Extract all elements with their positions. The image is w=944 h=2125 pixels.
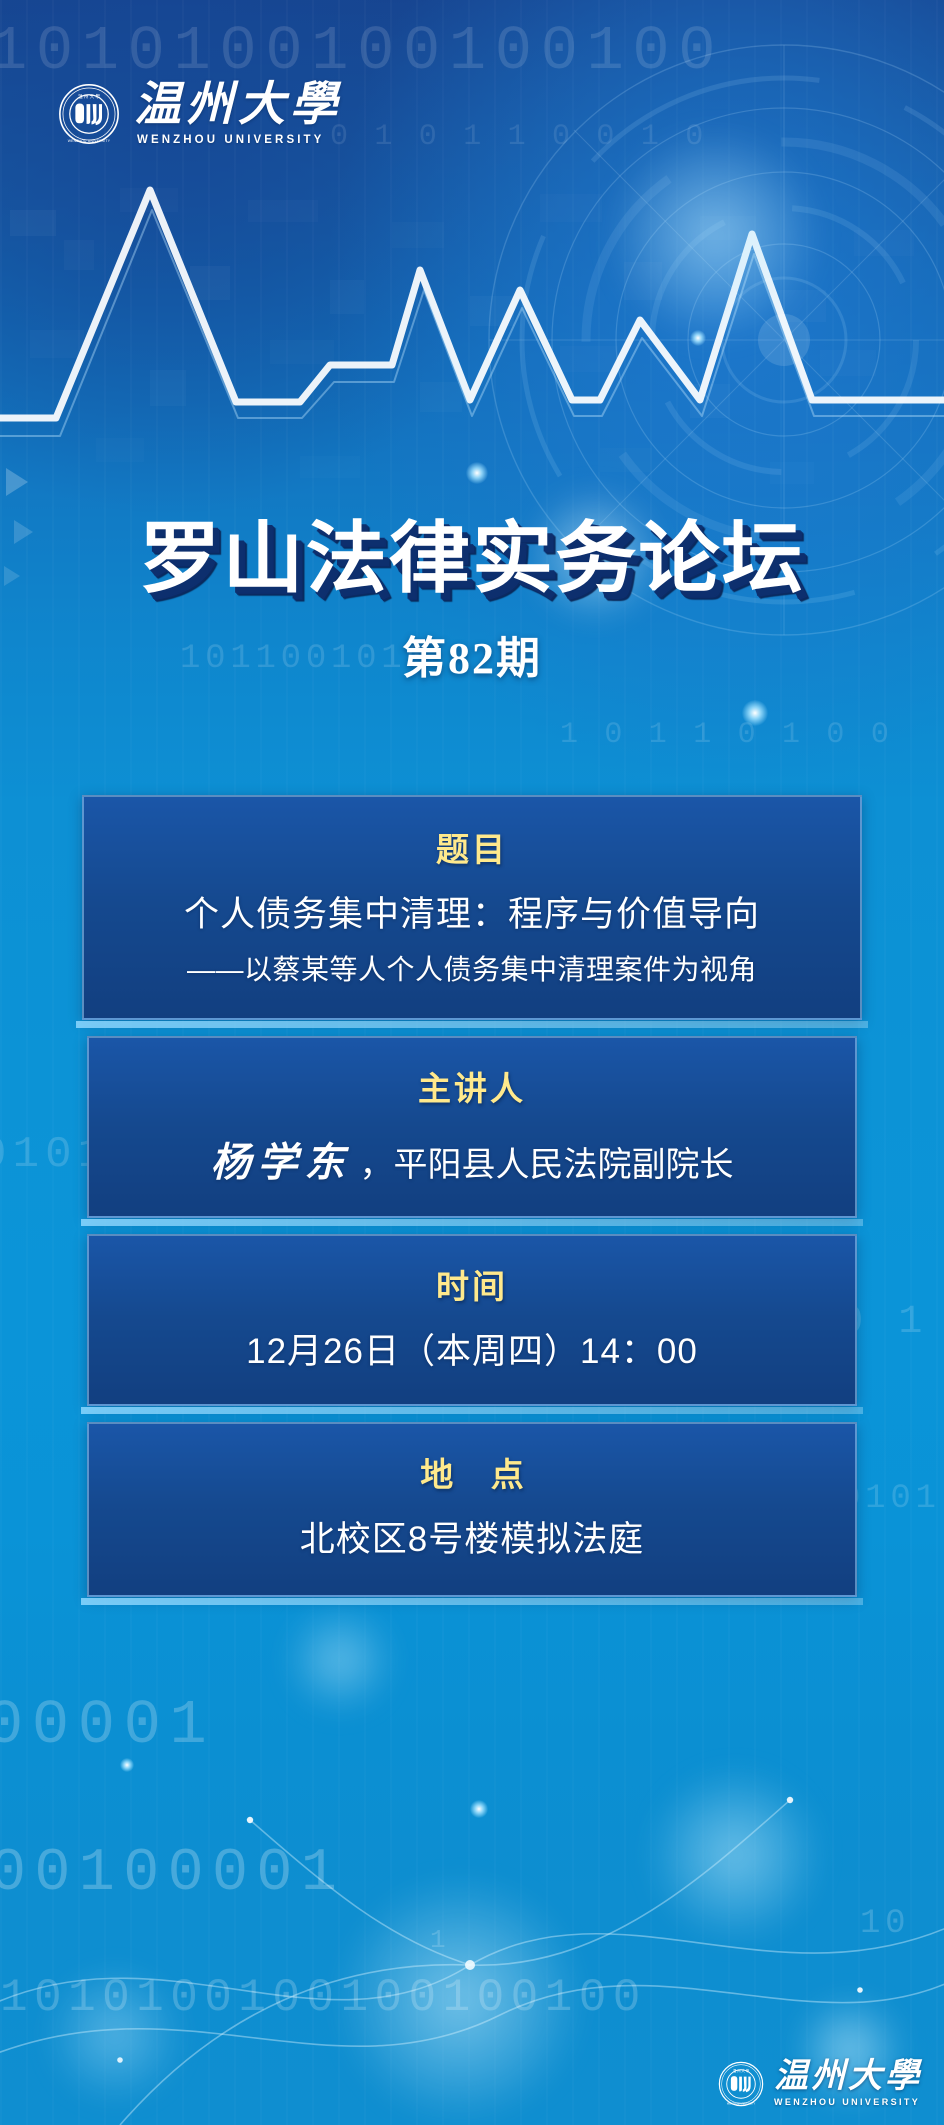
forum-issue-number: 第82期 (0, 622, 944, 686)
card-speaker-label: 主讲人 (113, 1062, 831, 1110)
arrow-marker (6, 468, 28, 496)
glow-dot (742, 700, 768, 726)
card-venue: 地 点 北校区8号楼模拟法庭 (87, 1422, 857, 1597)
card-topic: 题目 个人债务集中清理：程序与价值导向 ——以蔡某等人个人债务集中清理案件为视角 (82, 795, 862, 1020)
card-time-label: 时间 (113, 1260, 831, 1308)
title-block: 罗山法律实务论坛 第82期 (0, 520, 944, 686)
card-speaker-row: 杨学东 ，平阳县人民法院副院长 (113, 1130, 831, 1188)
university-logo-bottom: 温 州 大 學 WENZHOU UNIVERSITY 温州大學 WENZHOU … (718, 2060, 922, 2107)
university-name-cn: 温州大學 (134, 82, 342, 129)
svg-text:WENZHOU UNIVERSITY: WENZHOU UNIVERSITY (727, 2102, 756, 2105)
forum-title: 罗山法律实务论坛 (139, 520, 805, 598)
university-crest-icon: 温 州 大 學 WENZHOU UNIVERSITY (58, 83, 120, 145)
card-venue-value: 北校区8号楼模拟法庭 (113, 1516, 831, 1563)
speaker-name: 杨学东 (211, 1130, 352, 1188)
card-speaker: 主讲人 杨学东 ，平阳县人民法院副院长 (87, 1036, 857, 1218)
pulse-wave-graphic (0, 150, 944, 480)
university-logo-top: 温 州 大 學 WENZHOU UNIVERSITY 温州大學 WENZHOU … (58, 82, 342, 147)
svg-text:温 州 大 學: 温 州 大 學 (733, 2068, 750, 2073)
university-name-en: WENZHOU UNIVERSITY (137, 135, 342, 147)
card-topic-label: 题目 (108, 823, 836, 871)
svg-text:温 州 大 學: 温 州 大 學 (78, 93, 100, 100)
card-topic-title: 个人债务集中清理：程序与价值导向 (108, 891, 836, 938)
info-cards: 题目 个人债务集中清理：程序与价值导向 ——以蔡某等人个人债务集中清理案件为视角… (0, 795, 944, 1613)
card-topic-subtitle: ——以蔡某等人个人债务集中清理案件为视角 (108, 948, 836, 988)
card-venue-label: 地 点 (113, 1448, 831, 1496)
svg-text:WENZHOU UNIVERSITY: WENZHOU UNIVERSITY (68, 139, 111, 143)
glow-dot (466, 462, 488, 484)
glow-dot (470, 1800, 488, 1818)
university-crest-icon: 温 州 大 學 WENZHOU UNIVERSITY (718, 2061, 764, 2107)
glow-dot (690, 330, 706, 346)
poster-root: 1010100100100100 0 1 0 1 1 0 0 1 0 10110… (0, 0, 944, 2125)
university-name-cn: 温州大學 (774, 2060, 922, 2094)
card-time: 时间 12月26日（本周四）14：00 (87, 1234, 857, 1405)
university-name-en: WENZHOU UNIVERSITY (774, 2098, 922, 2107)
speaker-affiliation: ，平阳县人民法院副院长 (360, 1137, 734, 1186)
card-time-value: 12月26日（本周四）14：00 (113, 1328, 831, 1375)
glow-dot (120, 1758, 134, 1772)
